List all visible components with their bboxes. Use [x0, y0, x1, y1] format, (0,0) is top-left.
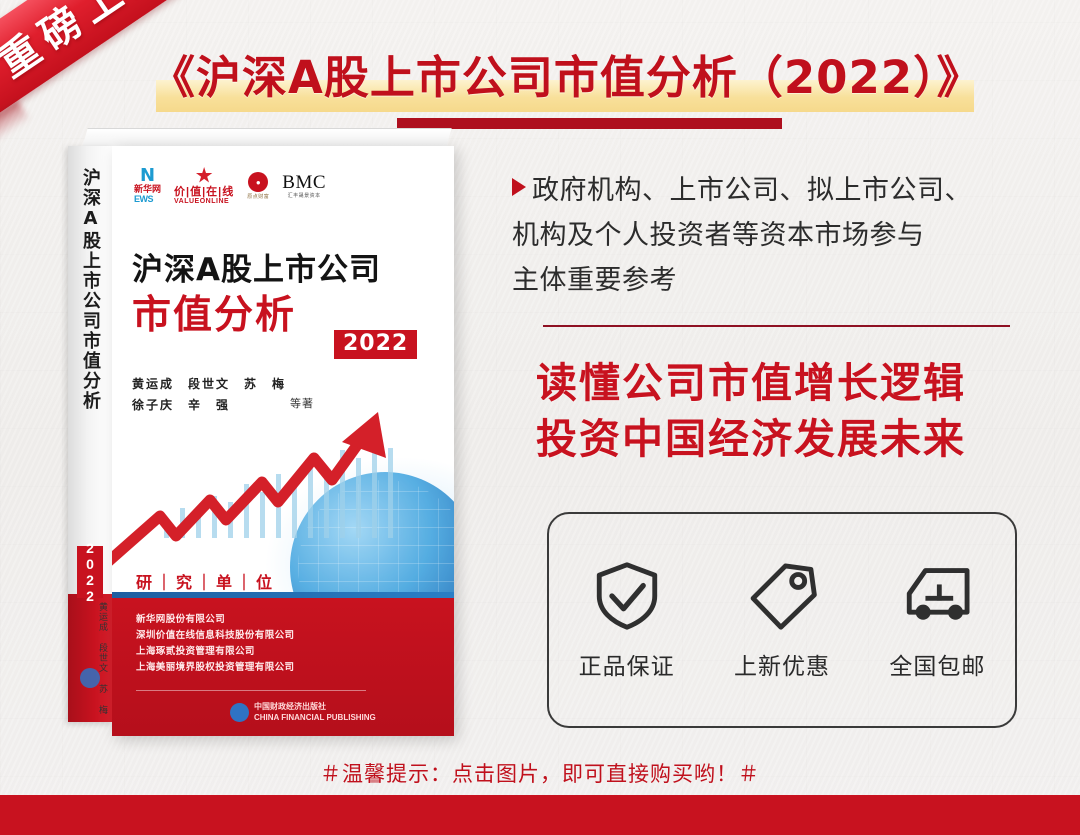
page-title: 《沪深A股上市公司市值分析（2022）》: [150, 38, 980, 118]
publisher-name-en: CHINA FINANCIAL PUBLISHING: [254, 713, 376, 722]
description-line: 主体重要参考: [512, 258, 972, 303]
cover-title-line1: 沪深A股上市公司: [132, 244, 381, 289]
feature-item-authenticity[interactable]: 正品保证: [549, 559, 704, 681]
cover-title-line2: 市值分析: [132, 284, 296, 340]
book-spine: 沪深A股上市公司市值分析 2022 黄运成 段世文 苏 梅: [68, 146, 112, 722]
description-line: 政府机构、上市公司、拟上市公司、: [532, 168, 972, 213]
uptrend-arrow-icon: [112, 396, 454, 596]
slogan-line2: 投资中国经济发展未来: [536, 411, 1036, 467]
spine-authors: 黄运成 段世文 苏 梅: [72, 602, 110, 722]
book-front-cover: N 新华网EWS 价|值|在|线VALUEONLINE ● 原点财富 BM: [112, 146, 454, 736]
seal-caption: 原点财富: [247, 193, 269, 200]
feature-badges: 正品保证 上新优惠 全国包邮: [547, 512, 1017, 728]
header: 《沪深A股上市公司市值分析（2022）》: [150, 38, 980, 118]
section-divider: [543, 325, 1010, 327]
feature-label: 正品保证: [579, 647, 675, 681]
spine-year: 2022: [77, 546, 103, 598]
cover-logo-row: N 新华网EWS 价|值|在|线VALUEONLINE ● 原点财富 BM: [134, 168, 434, 204]
bmc-logo: BMC汇丰晟景资本: [282, 173, 326, 199]
feature-label: 全国包邮: [889, 647, 985, 681]
spine-publisher-logo: [80, 668, 100, 688]
publisher-logo-icon: [230, 703, 249, 722]
organization-item: 新华网股份有限公司: [136, 612, 436, 628]
triangle-right-icon: [512, 178, 526, 196]
bottom-red-bar: [0, 795, 1080, 835]
organization-item: 深圳价值在线信息科技股份有限公司: [136, 628, 436, 644]
xinhuanet-logo: N 新华网EWS: [134, 169, 161, 204]
price-tag-icon: [745, 559, 819, 633]
publisher-name: 中国财政经济出版社: [254, 702, 376, 711]
ribbon-shadow: [0, 100, 30, 187]
publisher-block: 中国财政经济出版社 CHINA FINANCIAL PUBLISHING: [230, 702, 376, 722]
cover-growth-chart: [112, 396, 454, 596]
organization-divider: [136, 690, 366, 691]
delivery-truck-icon: [900, 559, 974, 633]
cover-authors-line1: 黄运成 段世文 苏 梅: [132, 374, 286, 395]
research-label: 研｜究｜单｜位: [136, 569, 276, 593]
organization-item: 上海琢贰投资管理有限公司: [136, 644, 436, 660]
organization-item: 上海美丽境界股权投资管理有限公司: [136, 660, 436, 676]
cover-red-panel: 新华网股份有限公司 深圳价值在线信息科技股份有限公司 上海琢贰投资管理有限公司 …: [112, 598, 454, 736]
description-line: 机构及个人投资者等资本市场参与: [512, 213, 972, 258]
shield-check-icon: [590, 559, 664, 633]
feature-item-shipping[interactable]: 全国包邮: [860, 559, 1015, 681]
seal-icon: ●: [248, 172, 268, 192]
spine-title: 沪深A股上市公司市值分析: [68, 168, 112, 588]
promo-poster: 重磅上线 《沪深A股上市公司市值分析（2022）》 沪深A股上市公司市值分析 2…: [0, 0, 1080, 835]
organization-list: 新华网股份有限公司 深圳价值在线信息科技股份有限公司 上海琢贰投资管理有限公司 …: [136, 612, 436, 676]
valueonline-logo: 价|值|在|线VALUEONLINE: [174, 167, 234, 205]
purchase-tip: ＃温馨提示：点击图片，即可直接购买哟！＃: [0, 758, 1080, 788]
description-block: 政府机构、上市公司、拟上市公司、 机构及个人投资者等资本市场参与 主体重要参考: [512, 168, 1032, 303]
feature-label: 上新优惠: [734, 647, 830, 681]
slogan-block: 读懂公司市值增长逻辑 投资中国经济发展未来: [536, 355, 1036, 467]
seal-logo: ● 原点财富: [247, 172, 269, 200]
book-mockup[interactable]: 沪深A股上市公司市值分析 2022 黄运成 段世文 苏 梅 N 新华网EWS 价…: [62, 128, 462, 728]
feature-item-discount[interactable]: 上新优惠: [704, 559, 859, 681]
cover-year-badge: 2022: [334, 330, 417, 359]
star-icon: [196, 167, 213, 184]
slogan-line1: 读懂公司市值增长逻辑: [536, 355, 1036, 411]
